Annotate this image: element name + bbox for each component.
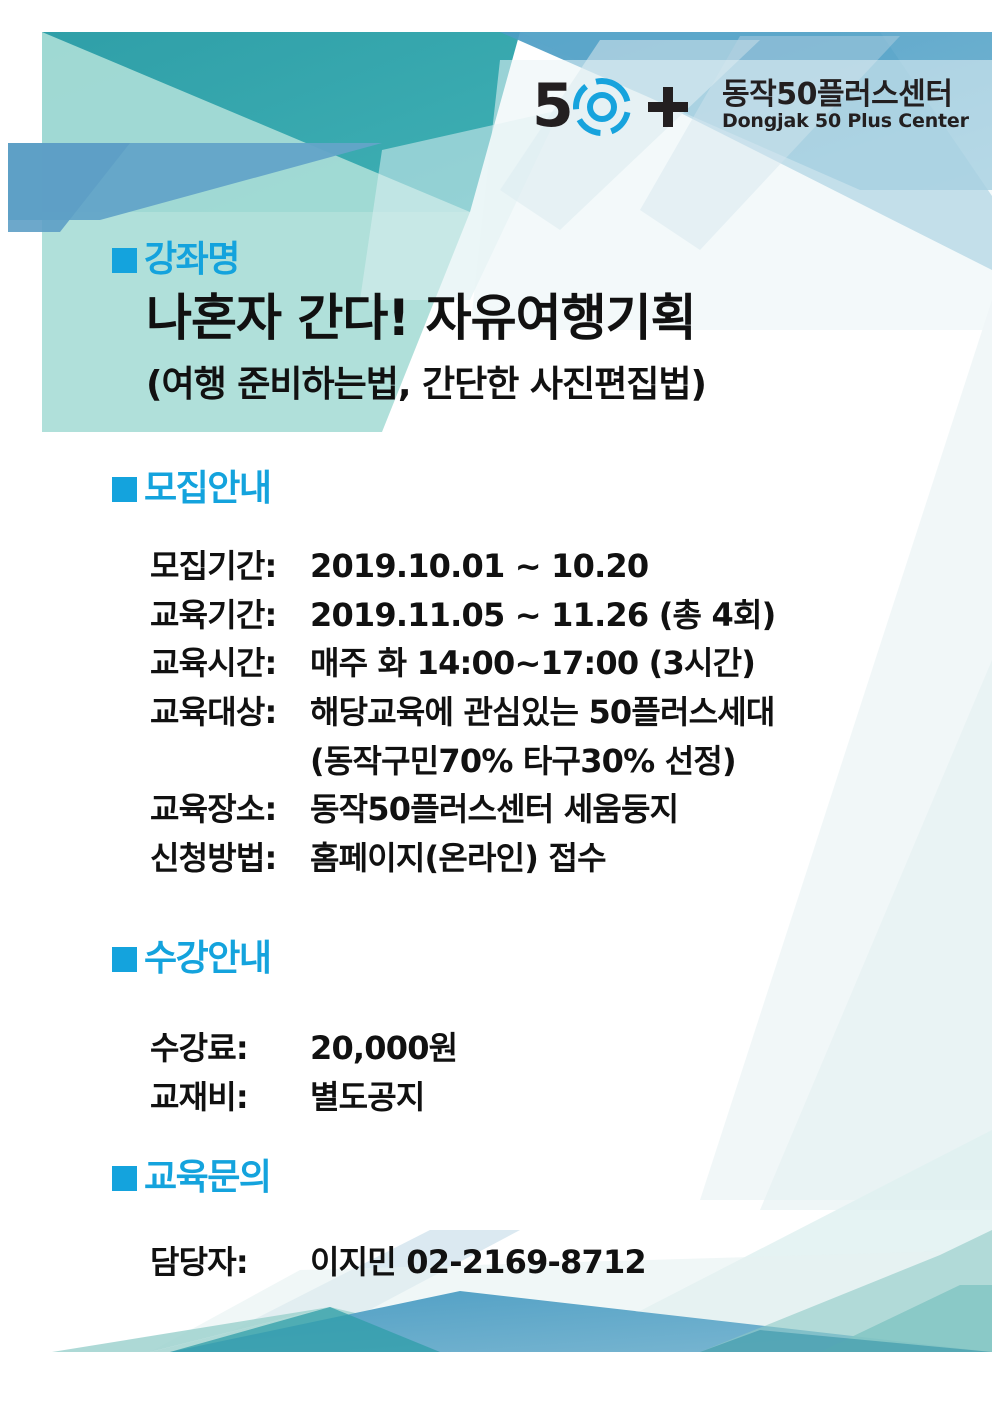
recruit-row-label: 신청방법: — [150, 834, 310, 883]
fee-info-list: 수강료:20,000원교재비:별도공지 — [150, 1024, 457, 1121]
shape-bottom-teal-overlap — [170, 1307, 440, 1352]
shape-bottom-teal-right — [820, 1285, 992, 1352]
recruit-row: 교육시간:매주 화 14:00~17:00 (3시간) — [150, 639, 775, 688]
recruit-row-value: 2019.10.01 ~ 10.20 — [310, 542, 775, 591]
shape-bottom-deep — [700, 1330, 992, 1352]
svg-text:5: 5 — [532, 76, 574, 138]
bullet-square-icon — [112, 477, 137, 502]
bullet-square-icon — [112, 947, 137, 972]
recruit-row-label: 교육기간: — [150, 591, 310, 640]
shape-top-right-pale-b — [640, 36, 900, 250]
section-header-contact-label: 교육문의 — [144, 1160, 270, 1196]
recruit-row-value: 홈페이지(온라인) 접수 — [310, 834, 775, 883]
section-header-recruit-label: 모집안내 — [144, 471, 270, 507]
recruit-row-value: 2019.11.05 ~ 11.26 (총 4회) — [310, 591, 775, 640]
fee-row-label: 수강료: — [150, 1024, 310, 1073]
fee-row-value: 20,000원 — [310, 1024, 457, 1073]
fee-row: 교재비:별도공지 — [150, 1073, 457, 1122]
course-poster: 5 동작50플러스센터 Dongjak 50 Plus Center — [0, 0, 992, 1403]
shape-bottom-mint-peak-right — [150, 1307, 520, 1352]
recruit-row-label: 교육장소: — [150, 785, 310, 834]
logo-name-korean: 동작50플러스센터 — [722, 79, 969, 111]
recruit-row: (동작구민70% 타구30% 선정) — [150, 737, 775, 786]
shape-bottom-mint-peak — [52, 1307, 330, 1352]
section-header-recruit: 모집안내 — [112, 471, 270, 507]
center-logo: 5 동작50플러스센터 Dongjak 50 Plus Center — [532, 76, 969, 138]
course-subtitle: (여행 준비하는법, 간단한 사진편집법) — [146, 366, 706, 404]
recruit-row: 신청방법:홈페이지(온라인) 접수 — [150, 834, 775, 883]
recruit-row: 교육기간:2019.11.05 ~ 11.26 (총 4회) — [150, 591, 775, 640]
contact-row-value: 이지민 02-2169-8712 — [310, 1238, 646, 1287]
fee-row: 수강료:20,000원 — [150, 1024, 457, 1073]
shape-bottom-white-base — [0, 1352, 992, 1403]
shape-top-left-teal — [42, 32, 520, 212]
recruit-row-value: 해당교육에 관심있는 50플러스세대 — [310, 688, 775, 737]
shape-bottom-blue-peak — [170, 1291, 992, 1352]
recruit-row: 모집기간:2019.10.01 ~ 10.20 — [150, 542, 775, 591]
shape-right-wash-2 — [760, 660, 992, 1210]
course-title: 나혼자 간다! 자유여행기획 — [146, 292, 696, 345]
shape-top-left-steel — [8, 143, 382, 220]
shape-top-left-steel-lower — [8, 143, 130, 232]
section-header-fee-label: 수강안내 — [144, 941, 270, 977]
recruit-row-value: 매주 화 14:00~17:00 (3시간) — [310, 639, 775, 688]
fifty-plus-mark-icon: 5 — [532, 76, 708, 138]
shape-bottom-teal-right-2 — [700, 1230, 992, 1352]
recruit-row-value: (동작구민70% 타구30% 선정) — [310, 737, 775, 786]
recruit-row-label: 교육시간: — [150, 639, 310, 688]
fee-row-value: 별도공지 — [310, 1073, 457, 1122]
recruit-row-value: 동작50플러스센터 세움둥지 — [310, 785, 775, 834]
recruit-row-label: 교육대상: — [150, 688, 310, 737]
bullet-square-icon — [112, 1166, 137, 1191]
section-header-course: 강좌명 — [112, 242, 239, 278]
logo-name-english: Dongjak 50 Plus Center — [722, 111, 969, 133]
shape-top-right-mid — [520, 32, 992, 270]
section-header-contact: 교육문의 — [112, 1160, 270, 1196]
bullet-square-icon — [112, 248, 137, 273]
contact-row: 담당자:이지민 02-2169-8712 — [150, 1238, 646, 1287]
section-header-course-label: 강좌명 — [144, 242, 239, 278]
section-header-fee: 수강안내 — [112, 941, 270, 977]
fee-row-label: 교재비: — [150, 1073, 310, 1122]
contact-info-list: 담당자:이지민 02-2169-8712 — [150, 1238, 646, 1287]
recruit-info-list: 모집기간:2019.10.01 ~ 10.20교육기간:2019.11.05 ~… — [150, 542, 775, 882]
recruit-row: 교육장소:동작50플러스센터 세움둥지 — [150, 785, 775, 834]
recruit-row: 교육대상:해당교육에 관심있는 50플러스세대 — [150, 688, 775, 737]
recruit-row-label: 모집기간: — [150, 542, 310, 591]
contact-row-label: 담당자: — [150, 1238, 310, 1287]
shape-top-left-pale — [360, 110, 560, 300]
